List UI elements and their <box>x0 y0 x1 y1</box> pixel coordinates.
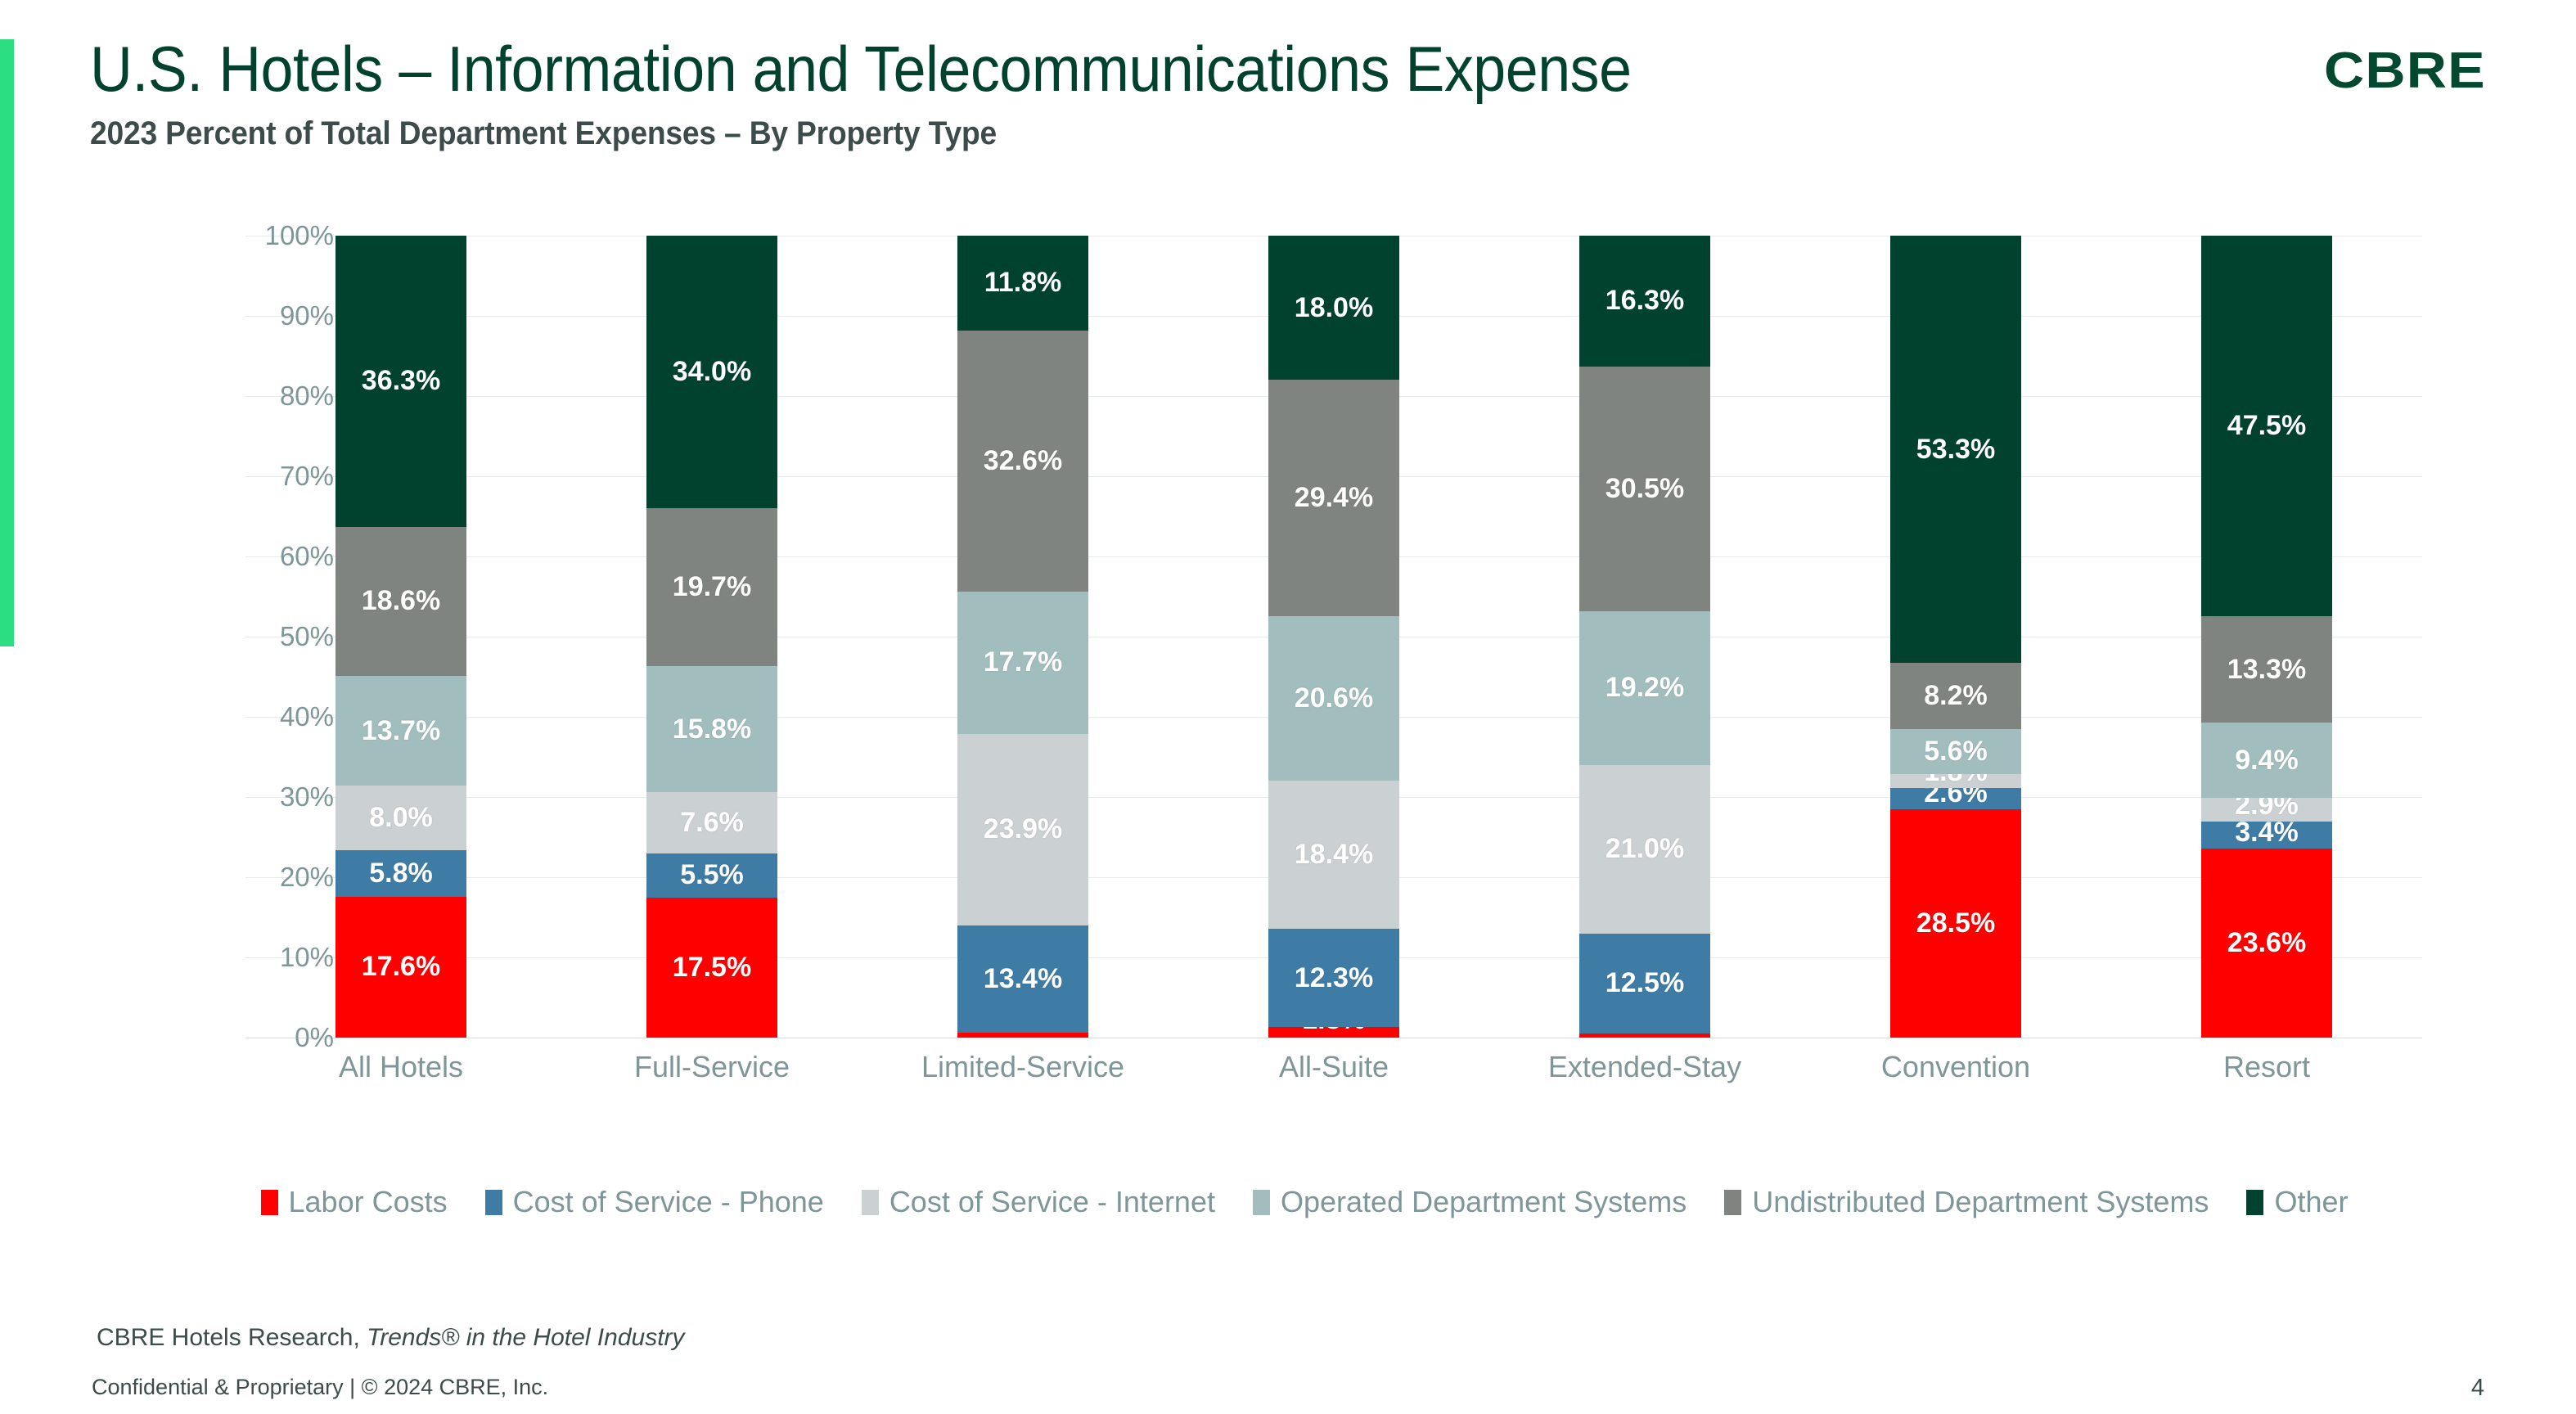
bar-segment[interactable]: 29.4% <box>1268 380 1399 615</box>
bar-segment[interactable]: 13.3% <box>2201 616 2332 723</box>
bar-segment-label: 17.7% <box>984 646 1062 678</box>
plot-area: 0%10%20%30%40%50%60%70%80%90%100% 17.6%5… <box>245 236 2422 1095</box>
bar-segment-label: 5.6% <box>1924 736 1988 768</box>
bar-segment-label: 12.5% <box>1605 967 1684 999</box>
bar-segment-label: 29.4% <box>1295 482 1373 514</box>
bar-segment-label: 23.9% <box>984 813 1062 845</box>
legend-item[interactable]: Other <box>2246 1185 2348 1219</box>
bar-segment-label: 18.0% <box>1295 292 1373 324</box>
bar-segment[interactable]: 30.5% <box>1579 367 1710 611</box>
legend-label: Operated Department Systems <box>1281 1185 1687 1219</box>
x-axis-tick-label: Resort <box>2111 1050 2422 1084</box>
bar-segment[interactable]: 17.5% <box>646 898 777 1038</box>
bar-column[interactable]: 28.5%2.6%1.8%5.6%8.2%53.3% <box>1800 236 2111 1038</box>
page-title: U.S. Hotels – Information and Telecommun… <box>90 34 2123 103</box>
bar-segment-label: 7.6% <box>680 807 744 839</box>
legend-swatch <box>1724 1190 1741 1215</box>
bar-segment[interactable]: 1.3% <box>1268 1027 1399 1038</box>
accent-bar <box>0 39 14 646</box>
bar-segment[interactable]: 11.8% <box>957 236 1088 331</box>
bar-segment[interactable]: 12.3% <box>1268 929 1399 1028</box>
legend-item[interactable]: Labor Costs <box>261 1185 448 1219</box>
bar-segment-label: 30.5% <box>1605 473 1684 505</box>
bar-segment-label: 23.6% <box>2227 927 2306 959</box>
bar-segment-label: 34.0% <box>673 356 751 388</box>
bar-segment-label: 18.6% <box>362 585 440 617</box>
bar-segment-label: 12.3% <box>1295 962 1373 994</box>
bar-segment[interactable]: 18.4% <box>1268 781 1399 928</box>
bar-stack: 17.5%5.5%7.6%15.8%19.7%34.0% <box>646 236 777 1038</box>
bar-segment-label: 47.5% <box>2227 410 2306 442</box>
bar-segment[interactable]: 17.7% <box>957 592 1088 733</box>
bar-segment[interactable]: 9.4% <box>2201 723 2332 798</box>
source-citation: CBRE Hotels Research, Trends® in the Hot… <box>97 1324 685 1352</box>
legend-label: Other <box>2274 1185 2348 1219</box>
bar-segment[interactable]: 13.7% <box>336 676 466 786</box>
bar-segment[interactable]: 47.5% <box>2201 236 2332 616</box>
bar-segment[interactable]: 21.0% <box>1579 765 1710 934</box>
page-subtitle: 2023 Percent of Total Department Expense… <box>90 115 2145 152</box>
gridline <box>245 1038 2422 1038</box>
bar-columns: 17.6%5.8%8.0%13.7%18.6%36.3%17.5%5.5%7.6… <box>245 236 2422 1038</box>
bar-segment-label: 17.5% <box>673 952 751 984</box>
bar-stack: 0.5%12.5%21.0%19.2%30.5%16.3% <box>1579 236 1710 1038</box>
x-axis-labels: All HotelsFull-ServiceLimited-ServiceAll… <box>245 1050 2422 1084</box>
legend-swatch <box>2246 1190 2263 1215</box>
bar-segment[interactable]: 5.6% <box>1890 729 2021 774</box>
bar-column[interactable]: 0.6%13.4%23.9%17.7%32.6%11.8% <box>867 236 1178 1038</box>
bar-segment-label: 5.8% <box>369 858 433 889</box>
bar-segment-label: 13.3% <box>2227 654 2306 686</box>
bar-column[interactable]: 1.3%12.3%18.4%20.6%29.4%18.0% <box>1178 236 1489 1038</box>
bar-segment-label: 13.4% <box>984 963 1062 995</box>
bar-segment[interactable]: 23.6% <box>2201 849 2332 1038</box>
x-axis-tick-label: Extended-Stay <box>1489 1050 1800 1084</box>
bar-segment[interactable]: 0.5% <box>1579 1033 1710 1038</box>
bar-segment-label: 19.7% <box>673 571 751 603</box>
source-italic: Trends® in the Hotel Industry <box>367 1324 684 1351</box>
bar-segment[interactable]: 7.6% <box>646 792 777 853</box>
bar-segment[interactable]: 19.2% <box>1579 611 1710 765</box>
bar-segment[interactable]: 36.3% <box>336 236 466 527</box>
bar-segment[interactable]: 5.5% <box>646 853 777 898</box>
cbre-logo: CBRE <box>2324 46 2486 97</box>
bar-column[interactable]: 17.6%5.8%8.0%13.7%18.6%36.3% <box>245 236 556 1038</box>
bar-segment[interactable]: 0.6% <box>957 1033 1088 1038</box>
source-prefix: CBRE Hotels Research, <box>97 1324 367 1351</box>
bar-segment-label: 11.8% <box>984 267 1062 299</box>
bar-segment[interactable]: 32.6% <box>957 331 1088 592</box>
bar-segment[interactable]: 16.3% <box>1579 236 1710 367</box>
bar-segment[interactable]: 34.0% <box>646 236 777 508</box>
bar-segment-label: 20.6% <box>1295 682 1373 714</box>
bar-segment[interactable]: 53.3% <box>1890 236 2021 663</box>
legend-swatch <box>485 1190 502 1215</box>
bar-segment[interactable]: 3.4% <box>2201 822 2332 849</box>
legend-label: Cost of Service - Phone <box>513 1185 824 1219</box>
bar-segment[interactable]: 28.5% <box>1890 809 2021 1038</box>
legend-swatch <box>261 1190 278 1215</box>
bar-column[interactable]: 0.5%12.5%21.0%19.2%30.5%16.3% <box>1489 236 1800 1038</box>
bar-segment-label: 3.4% <box>2235 817 2299 849</box>
slide-canvas: U.S. Hotels – Information and Telecommun… <box>0 0 2576 1414</box>
bar-segment-label: 19.2% <box>1605 672 1684 704</box>
bar-segment-label: 5.5% <box>680 859 744 891</box>
chart-legend: Labor CostsCost of Service - PhoneCost o… <box>131 1185 2478 1219</box>
bar-segment[interactable]: 8.0% <box>336 786 466 849</box>
bar-segment-label: 17.6% <box>362 951 440 983</box>
bar-segment-label: 21.0% <box>1605 833 1684 865</box>
bar-segment[interactable]: 13.4% <box>957 925 1088 1033</box>
bar-segment[interactable]: 19.7% <box>646 508 777 666</box>
bar-segment-label: 28.5% <box>1916 907 1995 939</box>
x-axis-tick-label: All-Suite <box>1178 1050 1489 1084</box>
bar-segment[interactable]: 23.9% <box>957 734 1088 925</box>
x-axis-tick-label: Limited-Service <box>867 1050 1178 1084</box>
stacked-bar-chart: 0%10%20%30%40%50%60%70%80%90%100% 17.6%5… <box>131 236 2422 1119</box>
bar-segment[interactable]: 15.8% <box>646 666 777 793</box>
legend-item[interactable]: Cost of Service - Phone <box>485 1185 824 1219</box>
bar-stack: 17.6%5.8%8.0%13.7%18.6%36.3% <box>336 236 466 1038</box>
bar-stack: 0.6%13.4%23.9%17.7%32.6%11.8% <box>957 236 1088 1038</box>
bar-segment-label: 36.3% <box>362 365 440 397</box>
bar-segment-label: 16.3% <box>1605 285 1684 317</box>
bar-segment-label: 32.6% <box>984 445 1062 477</box>
bar-segment[interactable]: 20.6% <box>1268 616 1399 781</box>
bar-segment[interactable]: 18.6% <box>336 527 466 676</box>
bar-stack: 28.5%2.6%1.8%5.6%8.2%53.3% <box>1890 236 2021 1038</box>
bar-segment[interactable]: 18.0% <box>1268 236 1399 380</box>
bar-segment[interactable]: 12.5% <box>1579 934 1710 1034</box>
bar-segment-label: 8.0% <box>369 802 433 834</box>
page-number: 4 <box>2471 1375 2484 1402</box>
legend-item[interactable]: Operated Department Systems <box>1253 1185 1687 1219</box>
legend-swatch <box>862 1190 879 1215</box>
bar-stack: 1.3%12.3%18.4%20.6%29.4%18.0% <box>1268 236 1399 1038</box>
x-axis-tick-label: Full-Service <box>556 1050 867 1084</box>
bar-stack: 23.6%3.4%2.9%9.4%13.3%47.5% <box>2201 236 2332 1038</box>
bar-column[interactable]: 17.5%5.5%7.6%15.8%19.7%34.0% <box>556 236 867 1038</box>
x-axis-tick-label: All Hotels <box>245 1050 556 1084</box>
bar-segment[interactable]: 2.6% <box>1890 788 2021 808</box>
bar-segment-label: 53.3% <box>1916 434 1995 466</box>
bar-segment-label: 13.7% <box>362 715 440 747</box>
bar-segment[interactable]: 8.2% <box>1890 663 2021 728</box>
bar-segment[interactable]: 2.9% <box>2201 798 2332 821</box>
bar-segment[interactable]: 17.6% <box>336 897 466 1038</box>
legend-item[interactable]: Undistributed Department Systems <box>1724 1185 2209 1219</box>
bar-segment-label: 18.4% <box>1295 839 1373 871</box>
slide-header: U.S. Hotels – Information and Telecommun… <box>90 34 2299 152</box>
legend-item[interactable]: Cost of Service - Internet <box>862 1185 1215 1219</box>
confidential-note: Confidential & Proprietary | © 2024 CBRE… <box>92 1375 548 1400</box>
bar-segment[interactable]: 1.8% <box>1890 774 2021 789</box>
bar-segment-label: 9.4% <box>2235 745 2299 777</box>
legend-label: Undistributed Department Systems <box>1752 1185 2209 1219</box>
legend-swatch <box>1253 1190 1270 1215</box>
bar-segment[interactable]: 5.8% <box>336 850 466 897</box>
legend-label: Cost of Service - Internet <box>889 1185 1215 1219</box>
bar-segment-label: 15.8% <box>673 714 751 745</box>
bar-segment-label: 8.2% <box>1924 680 1988 712</box>
legend-label: Labor Costs <box>289 1185 448 1219</box>
bar-column[interactable]: 23.6%3.4%2.9%9.4%13.3%47.5% <box>2111 236 2422 1038</box>
x-axis-tick-label: Convention <box>1800 1050 2111 1084</box>
